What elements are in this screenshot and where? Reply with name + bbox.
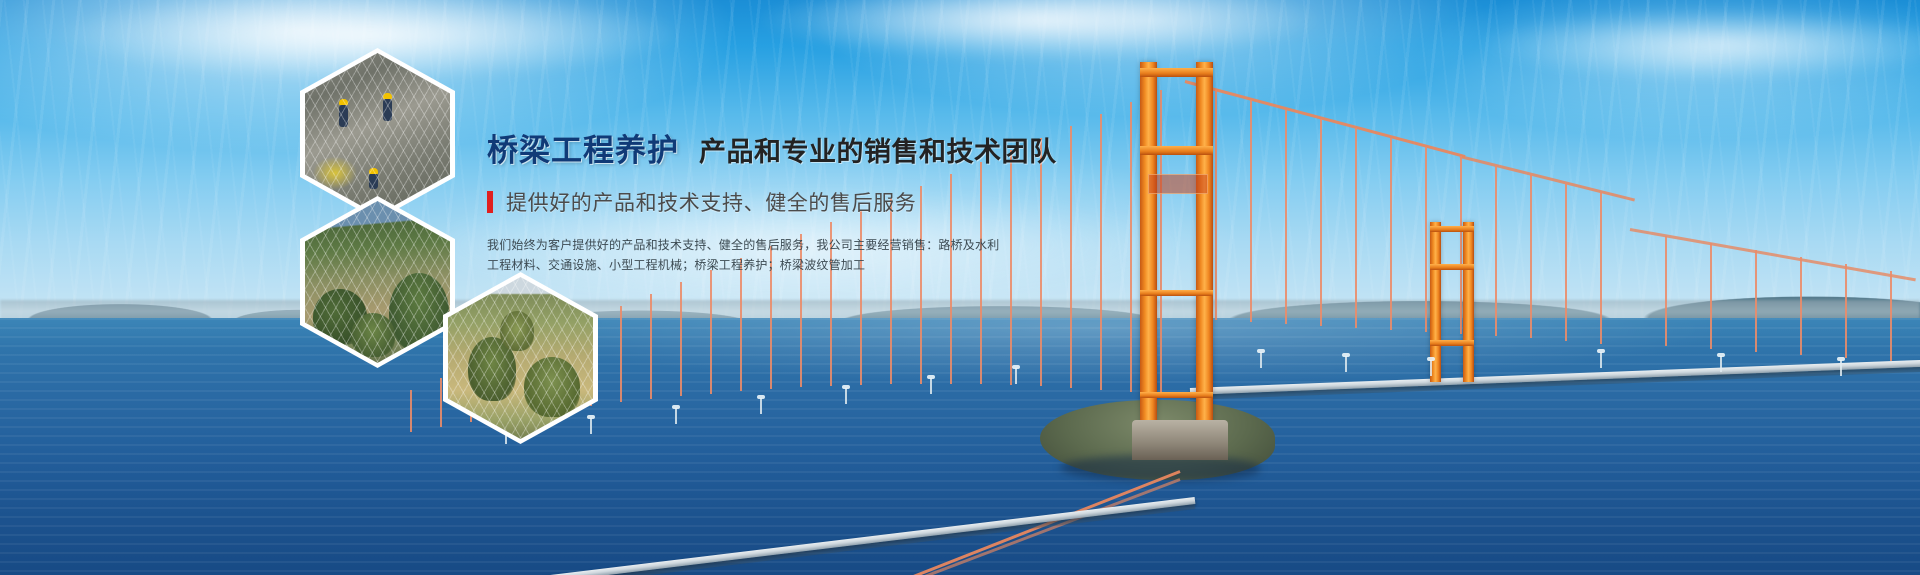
red-accent-bar	[487, 191, 493, 213]
protection-mesh-overlay-3	[448, 277, 593, 439]
main-cable-left-inner	[385, 478, 1181, 575]
headline-primary: 桥梁工程养护	[487, 125, 679, 170]
protection-mesh-overlay-2	[305, 201, 450, 363]
main-cable-backspan	[1630, 228, 1916, 281]
main-cable-right	[1185, 80, 1466, 158]
hero-banner: 桥梁工程养护 产品和专业的销售和技术团队 提供好的产品和技术支持、健全的售后服务…	[0, 0, 1920, 575]
paragraph-line-1: 我们始终为客户提供好的产品和技术支持、健全的售后服务，我公司主要经营销售：路桥及…	[487, 235, 907, 255]
suspension-bridge	[0, 0, 1920, 575]
banner-text-block: 桥梁工程养护 产品和专业的销售和技术团队 提供好的产品和技术支持、健全的售后服务…	[487, 125, 1047, 275]
bridge-tower-secondary	[1430, 222, 1478, 382]
banner-subtitle-row: 提供好的产品和技术支持、健全的售后服务	[487, 187, 1047, 217]
main-cable-right-far	[1460, 155, 1635, 201]
gallery-hex-3-photo	[448, 277, 593, 439]
headline-secondary: 产品和专业的销售和技术团队	[699, 130, 1057, 169]
paragraph-line-2: 工程材料、交通设施、小型工程机械；桥梁工程养护；桥梁波纹管加工	[487, 255, 907, 275]
banner-subtitle: 提供好的产品和技术支持、健全的售后服务	[506, 187, 916, 217]
gallery-hex-1-photo	[305, 53, 450, 215]
bridge-deck-right	[1190, 360, 1920, 395]
tower-sign	[1148, 174, 1208, 194]
bridge-pier-main	[1132, 420, 1228, 460]
banner-headline: 桥梁工程养护 产品和专业的销售和技术团队	[487, 125, 1047, 170]
protection-mesh-overlay-1	[305, 53, 450, 215]
banner-paragraph: 我们始终为客户提供好的产品和技术支持、健全的售后服务，我公司主要经营销售：路桥及…	[487, 235, 907, 275]
bridge-tower-main	[1140, 62, 1220, 432]
gallery-hex-2-photo	[305, 201, 450, 363]
